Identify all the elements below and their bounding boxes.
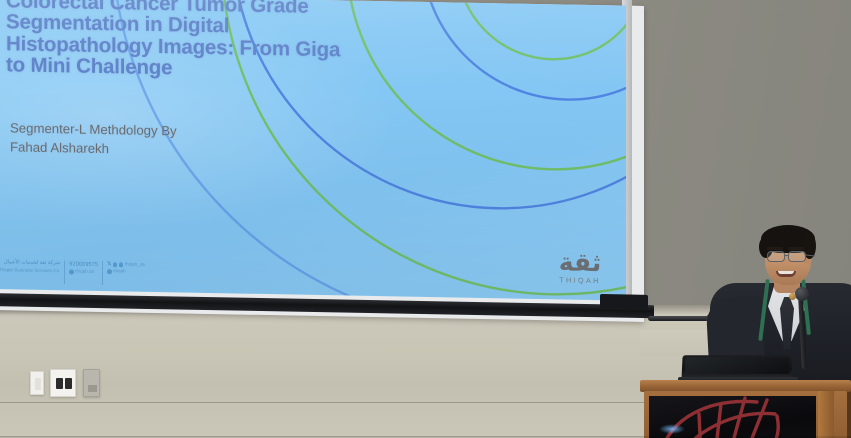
glasses-lens	[767, 251, 785, 262]
footer-company: شركة ثقة لخدمات الأعمال Thiqah Business …	[0, 259, 64, 274]
podium-area	[640, 215, 851, 438]
slide-title: Colorectal Cancer Tumor Grade Segmentati…	[6, 0, 351, 82]
social-row-bottom: thiqah	[107, 268, 144, 275]
youtube-icon	[107, 269, 112, 274]
thiqah-wordmark: THIQAH	[547, 275, 613, 285]
phone-number: 920009575	[69, 260, 98, 269]
linkedin-icon	[119, 263, 124, 268]
website-handle: thiqah.sa	[75, 269, 94, 276]
glasses-bridge	[785, 255, 789, 256]
projected-slide: Colorectal Cancer Tumor Grade Segmentati…	[0, 0, 626, 301]
power-outlet-plate[interactable]	[50, 369, 76, 397]
social-handle: thiqah	[113, 268, 126, 275]
laptop-screen	[685, 357, 790, 374]
thiqah-logo: ثقة THIQAH	[547, 249, 613, 285]
outlet-socket	[56, 378, 63, 389]
eyeglasses	[764, 251, 812, 262]
panel-light-reflection	[659, 424, 685, 434]
eyebrow	[788, 247, 804, 250]
podium-post	[818, 391, 834, 438]
instagram-icon	[113, 263, 118, 268]
slide-subtitle: Segmenter-L Methdology By Fahad Alsharek…	[10, 119, 340, 163]
mouth	[776, 271, 796, 277]
x-twitter-icon: 𝕏	[107, 261, 111, 268]
globe-icon	[69, 270, 74, 275]
presentation-photo-scene: Colorectal Cancer Tumor Grade Segmentati…	[0, 0, 851, 438]
x-handle: thiqah_sa	[125, 262, 145, 269]
thiqah-arabic-mark: ثقة	[547, 249, 613, 275]
footer-contact: 920009575 thiqah.sa	[65, 260, 102, 275]
glasses-lens	[788, 251, 806, 262]
eyebrow	[767, 247, 783, 250]
projection-screen: Colorectal Cancer Tumor Grade Segmentati…	[0, 0, 652, 334]
glasses-temple	[806, 255, 815, 257]
outlet-socket	[65, 378, 72, 389]
data-port-plate[interactable]	[83, 369, 100, 397]
footer-social: 𝕏 thiqah_sa thiqah	[103, 261, 148, 276]
slide-footer: شركة ثقة لخدمات الأعمال Thiqah Business …	[0, 259, 178, 286]
podium-front-panel	[649, 396, 816, 438]
microphone-accent-ring	[789, 293, 796, 300]
light-switch-plate[interactable]	[30, 371, 44, 395]
company-name-english: Thiqah Business Services Co.	[0, 267, 60, 275]
microphone-head[interactable]	[795, 287, 809, 301]
website-row: thiqah.sa	[69, 269, 98, 276]
